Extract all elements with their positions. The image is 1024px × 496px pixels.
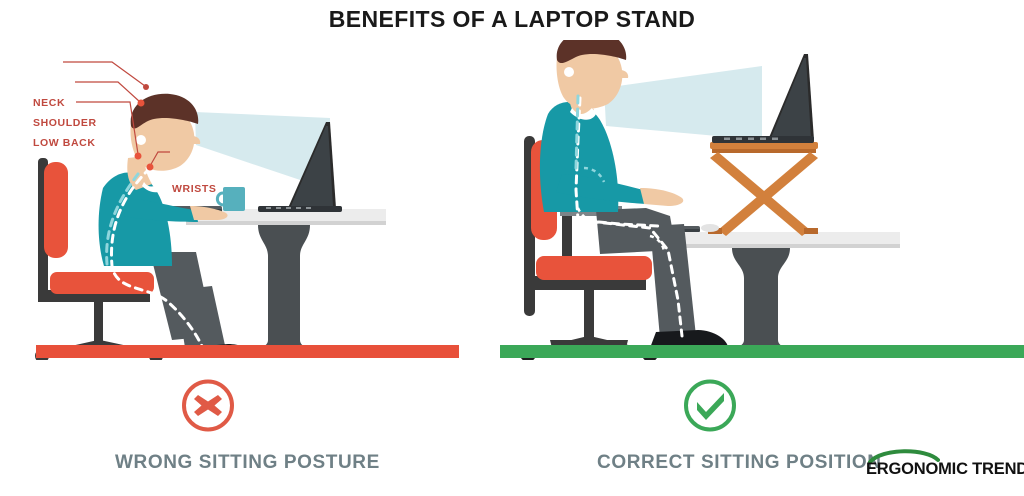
logo-text: ERGONOMIC TRENDS [866,460,1016,479]
page-title: BENEFITS OF A LAPTOP STAND [0,6,1024,33]
annotation-low-back: LOW BACK [33,137,96,149]
caption-wrong-posture: WRONG SITTING POSTURE [115,452,380,474]
shoulder-point [138,100,145,107]
floor-bar-wrong [36,345,459,358]
ear [136,135,146,145]
desk-leg [724,248,798,358]
wrists-point [147,164,154,171]
check-circle-icon [680,378,740,433]
annotation-neck: NECK [33,97,65,109]
left-panel-wrong-posture: NECK SHOULDER LOW BACK WRISTS [0,40,500,360]
brand-logo[interactable]: ERGONOMIC TRENDS [866,448,1016,488]
infographic-root: BENEFITS OF A LAPTOP STAND [0,0,1024,496]
caption-correct-posture: CORRECT SITTING POSITION [597,452,882,474]
right-panel-correct-posture [500,40,1024,360]
annotation-shoulder: SHOULDER [33,117,97,129]
correct-posture-illustration [500,40,1024,360]
desk-top-edge [650,244,900,248]
neck-point [143,84,149,90]
desk-leg [250,225,318,358]
desk-top-edge [186,221,386,225]
hand [640,188,683,206]
floor-bar-correct [500,345,1024,358]
laptop-stand [708,142,818,236]
annotation-wrists: WRISTS [172,183,216,195]
wrong-posture-illustration [0,40,500,360]
mouse [701,224,719,232]
desk-top [650,232,900,244]
ear [564,67,574,77]
nose [620,70,628,78]
cross-circle-icon [178,378,238,433]
low-back-point [135,153,142,160]
